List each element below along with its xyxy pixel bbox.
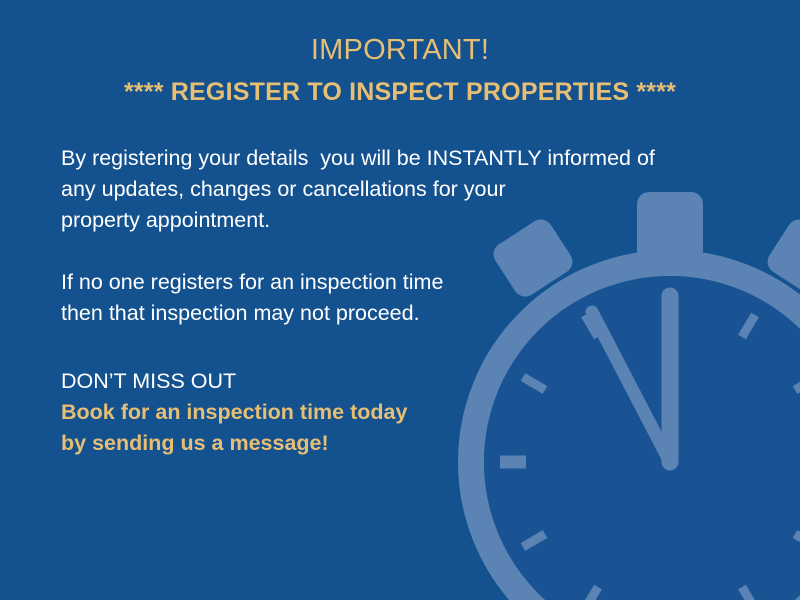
call-to-action-block: DON’T MISS OUT Book for an inspection ti…: [61, 366, 621, 459]
body-block: By registering your details you will be …: [61, 143, 721, 329]
heading-block: IMPORTANT! **** REGISTER TO INSPECT PROP…: [0, 30, 800, 112]
body-paragraph-2: If no one registers for an inspection ti…: [61, 267, 721, 329]
cta-line-dont-miss-out: DON’T MISS OUT: [61, 366, 621, 397]
body-paragraph-1: By registering your details you will be …: [61, 143, 721, 236]
cta-line-book-inspection: Book for an inspection time today: [61, 397, 621, 428]
slide-canvas: IMPORTANT! **** REGISTER TO INSPECT PROP…: [0, 0, 800, 600]
page-subtitle: **** REGISTER TO INSPECT PROPERTIES ****: [0, 72, 800, 112]
cta-line-send-message: by sending us a message!: [61, 428, 621, 459]
page-title: IMPORTANT!: [0, 30, 800, 70]
content-layer: IMPORTANT! **** REGISTER TO INSPECT PROP…: [0, 0, 800, 600]
